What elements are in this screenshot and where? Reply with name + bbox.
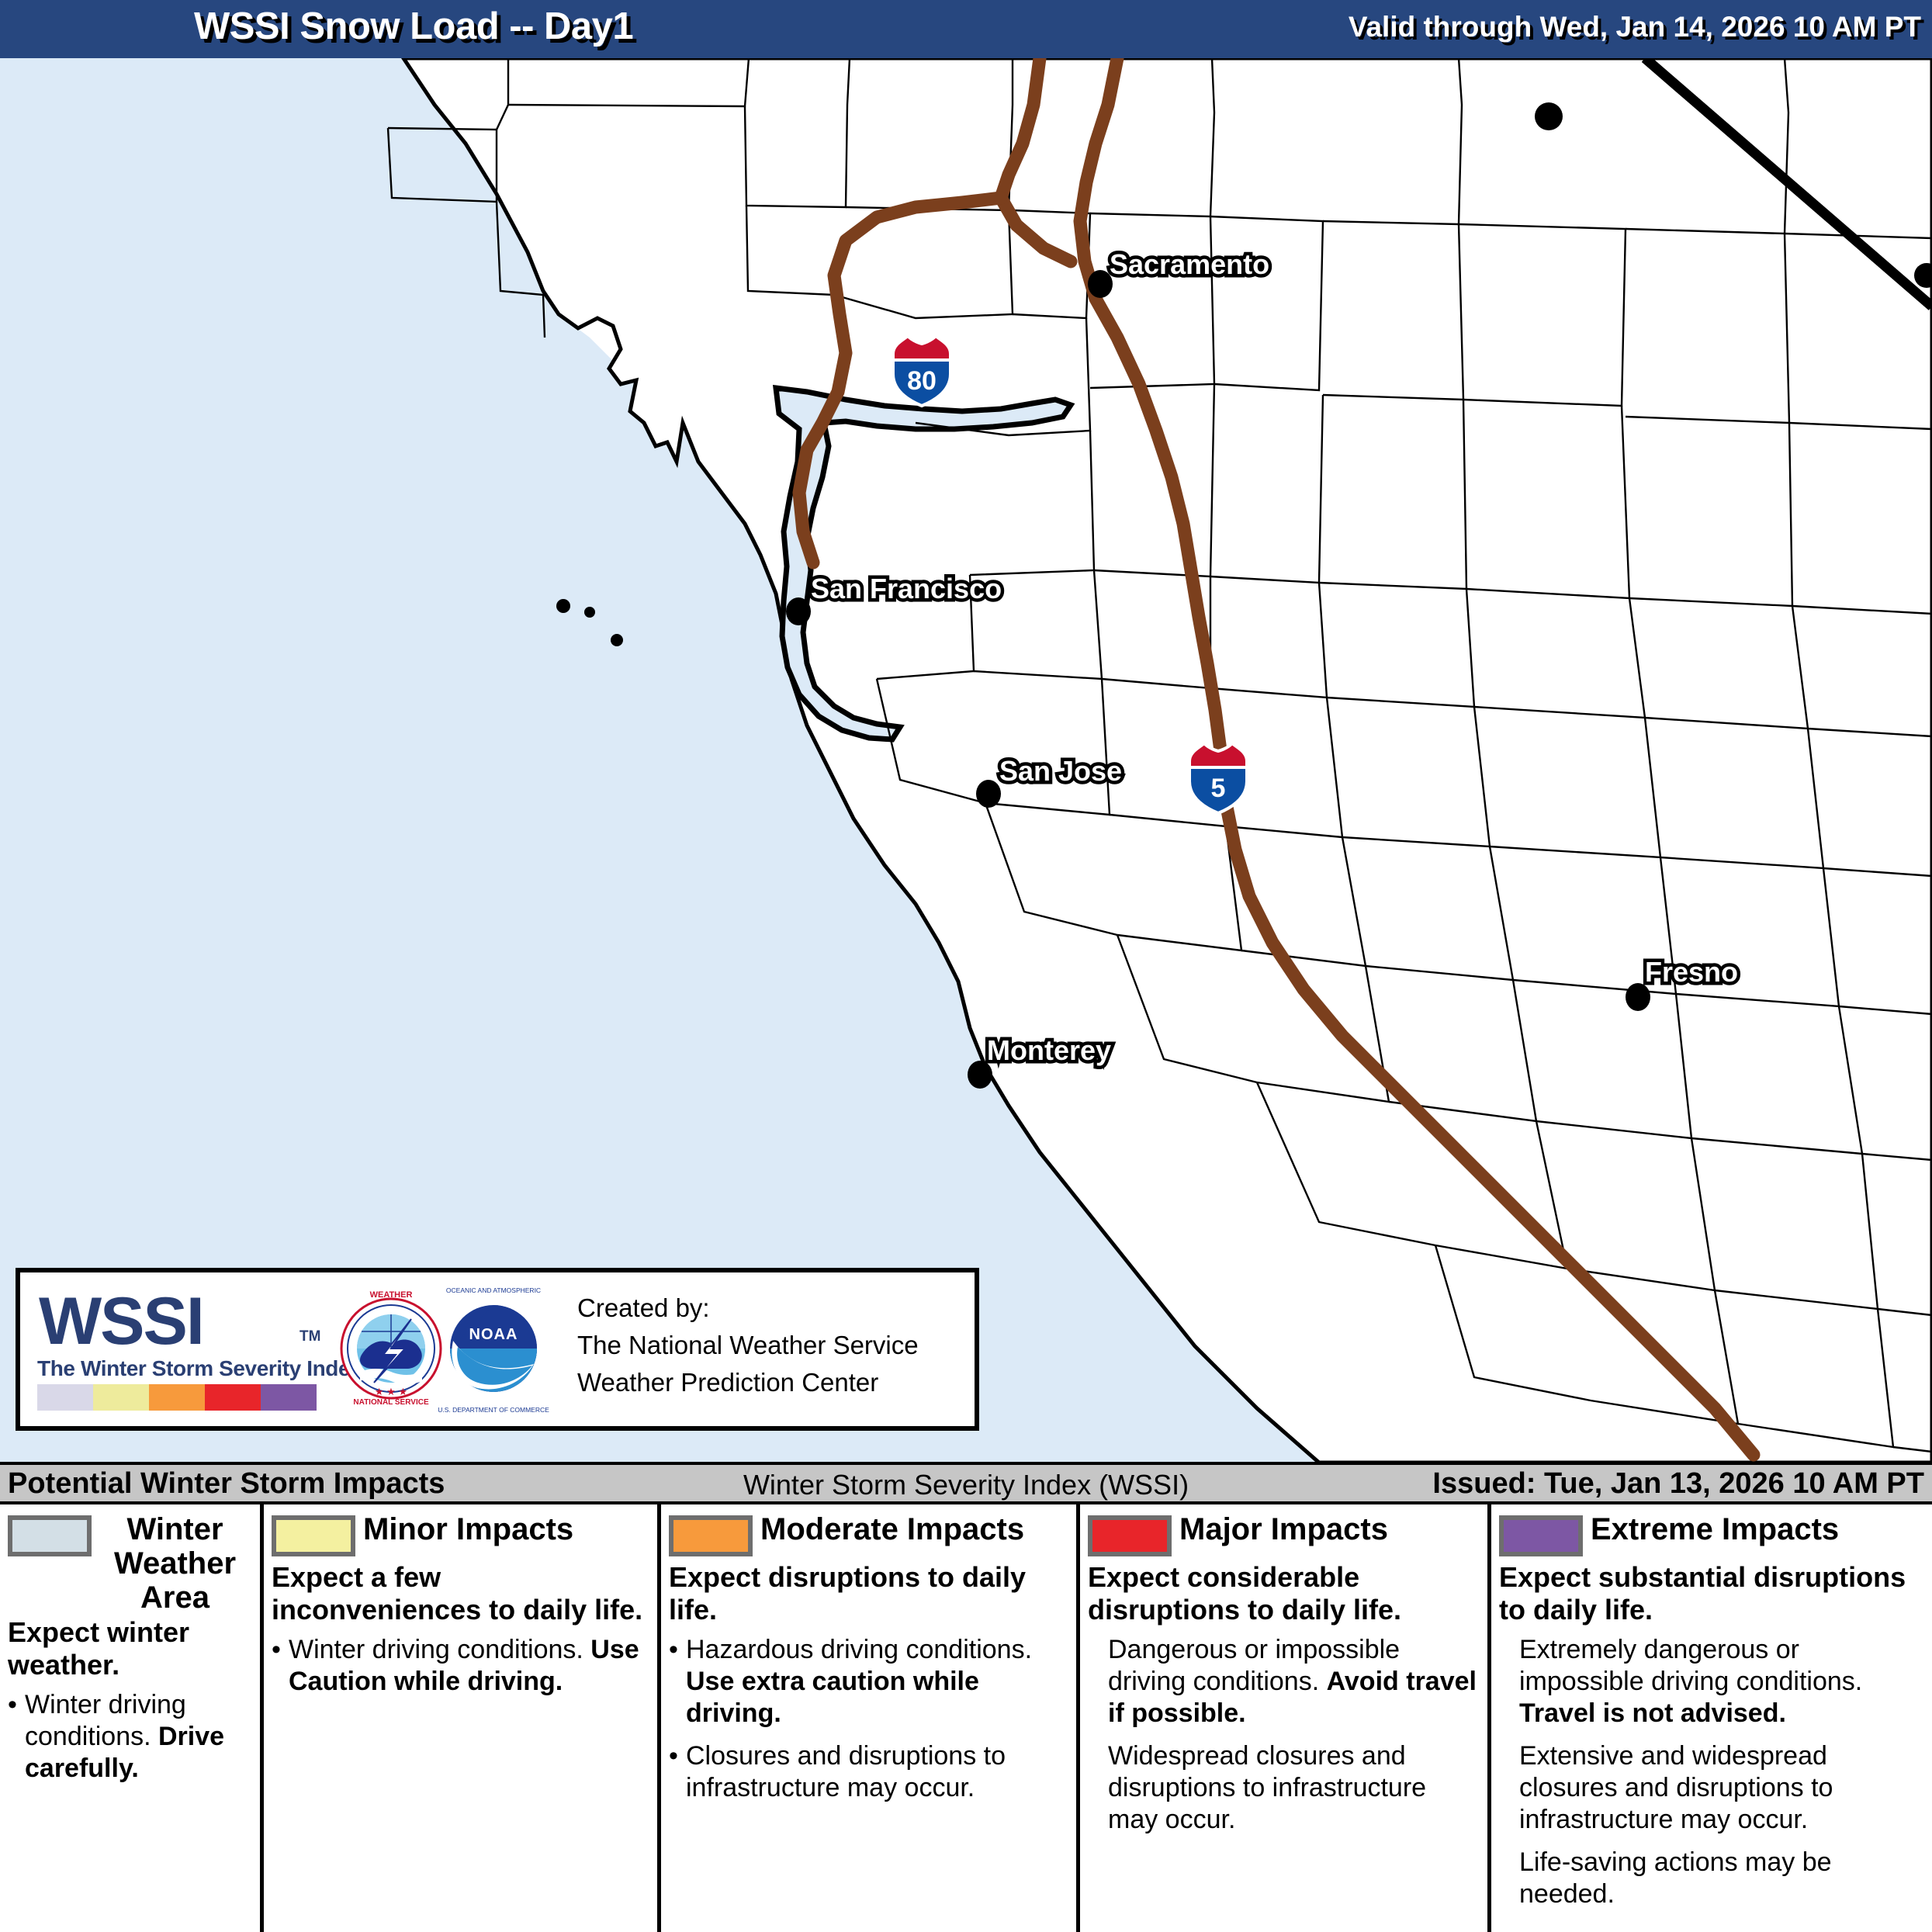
legend-subtitle-moderate-impacts: Expect disruptions to daily life. [669,1561,1067,1626]
city-dot-san-jose [976,780,1001,808]
svg-text:★ ★ ★: ★ ★ ★ [375,1386,407,1397]
legend-column-moderate-impacts[interactable]: Moderate Impacts Expect disruptions to d… [661,1504,1080,1932]
map-geography [0,58,1932,1463]
legend-bullet: •Dangerous or impossible driving conditi… [1088,1634,1478,1729]
map-canvas[interactable]: 80 5 Sacramento San Francisco San Jose F… [0,58,1932,1463]
status-bar: Potential Winter Storm Impacts Winter St… [0,1462,1932,1504]
legend-bullet: •Winter driving conditions. Drive carefu… [8,1689,251,1785]
legend-subtitle-winter-weather-area: Expect winter weather. [8,1616,251,1681]
legend-swatch-winter-weather-area [8,1515,92,1556]
national-weather-service-seal: WEATHER NATIONAL SERVICE ★ ★ ★ [341,1290,441,1407]
created-by-line-3: Weather Prediction Center [577,1364,919,1401]
svg-text:U.S. DEPARTMENT OF COMMERCE: U.S. DEPARTMENT OF COMMERCE [438,1406,549,1414]
svg-text:OCEANIC AND ATMOSPHERIC: OCEANIC AND ATMOSPHERIC [446,1286,541,1294]
created-by-line-2: The National Weather Service [577,1327,919,1364]
wssi-logo-box: WSSI TM The Winter Storm Severity Index [16,1268,979,1431]
potential-impacts-label: Potential Winter Storm Impacts [8,1467,445,1501]
legend-bullets-minor-impacts: •Winter driving conditions. Use Caution … [272,1634,648,1698]
city-dot-san-francisco [786,597,811,625]
city-dot-unlabeled [1535,102,1563,130]
colorbar-segment-major [205,1384,261,1411]
city-label-san-jose: San Jose [999,755,1122,788]
legend-bullet: •Life-saving actions may be needed. [1499,1847,1923,1910]
legend-bullets-extreme-impacts: •Extremely dangerous or impossible drivi… [1499,1634,1923,1910]
wssi-full-name-label: Winter Storm Severity Index (WSSI) [743,1469,1189,1501]
interstate-number: 80 [907,366,937,396]
legend-subtitle-extreme-impacts: Expect substantial disruptions to daily … [1499,1561,1923,1626]
legend-title-major-impacts: Major Impacts [1179,1512,1388,1546]
bullet-text: Life-saving actions may be needed. [1519,1847,1923,1910]
interstate-shield-5: 5 [1185,741,1252,815]
noaa-seal: NOAA OCEANIC AND ATMOSPHERIC U.S. DEPART… [438,1286,549,1414]
farallon-island [584,607,595,618]
legend-title-winter-weather-area: Winter Weather Area [99,1512,251,1615]
city-label-sacramento: Sacramento [1110,248,1269,281]
impact-legend: Winter Weather Area Expect winter weathe… [0,1501,1932,1932]
header-bar: WSSI Snow Load -- Day1 Valid through Wed… [0,0,1932,58]
bullet-text: Extensive and widespread closures and di… [1519,1740,1923,1836]
legend-subtitle-minor-impacts: Expect a few inconveniences to daily lif… [272,1561,648,1626]
legend-column-extreme-impacts[interactable]: Extreme Impacts Expect substantial disru… [1491,1504,1932,1932]
colorbar-segment-extreme [261,1384,317,1411]
legend-bullet: •Closures and disruptions to infrastruct… [669,1740,1067,1804]
legend-bullet: •Extremely dangerous or impossible drivi… [1499,1634,1923,1729]
bullet-dot: • [669,1634,686,1729]
legend-bullets-moderate-impacts: •Hazardous driving conditions. Use extra… [669,1634,1067,1804]
farallon-island [611,634,623,646]
bullet-text: Widespread closures and disruptions to i… [1108,1740,1478,1836]
legend-column-winter-weather-area[interactable]: Winter Weather Area Expect winter weathe… [0,1504,264,1932]
legend-subtitle-major-impacts: Expect considerable disruptions to daily… [1088,1561,1478,1626]
bullet-dot: • [669,1740,686,1804]
bullet-text: Winter driving conditions. Use Caution w… [289,1634,648,1698]
created-by-block: Created by: The National Weather Service… [577,1290,919,1401]
bullet-text: Closures and disruptions to infrastructu… [686,1740,1067,1804]
bullet-emphasis: Drive carefully. [25,1722,224,1783]
legend-bullet: •Hazardous driving conditions. Use extra… [669,1634,1067,1729]
legend-swatch-minor-impacts [272,1515,355,1556]
bullet-text: Hazardous driving conditions. Use extra … [686,1634,1067,1729]
bullet-text: Winter driving conditions. Drive careful… [25,1689,251,1785]
legend-bullet: •Winter driving conditions. Use Caution … [272,1634,648,1698]
svg-text:NATIONAL SERVICE: NATIONAL SERVICE [353,1398,429,1407]
wssi-snow-load-map-page: WSSI Snow Load -- Day1 Valid through Wed… [0,0,1932,1932]
legend-title-moderate-impacts: Moderate Impacts [760,1512,1024,1546]
legend-title-extreme-impacts: Extreme Impacts [1591,1512,1839,1546]
interstate-number: 5 [1211,774,1226,803]
legend-bullets-major-impacts: •Dangerous or impossible driving conditi… [1088,1634,1478,1836]
legend-bullets-winter-weather-area: •Winter driving conditions. Drive carefu… [8,1689,251,1785]
legend-title-minor-impacts: Minor Impacts [363,1512,573,1546]
issued-label: Issued: Tue, Jan 13, 2026 10 AM PT [1432,1467,1924,1501]
legend-swatch-moderate-impacts [669,1515,753,1556]
colorbar-segment-winter-weather [37,1384,93,1411]
city-label-san-francisco: San Francisco [811,573,1002,605]
legend-swatch-major-impacts [1088,1515,1172,1556]
city-label-monterey: Monterey [987,1034,1111,1067]
legend-swatch-extreme-impacts [1499,1515,1583,1556]
colorbar-segment-minor [93,1384,149,1411]
bullet-emphasis: Use Caution while driving. [289,1635,639,1696]
farallon-island [556,599,570,613]
bullet-dot: • [8,1689,25,1785]
bullet-dot: • [272,1634,289,1698]
page-title: WSSI Snow Load -- Day1 [194,5,633,48]
bullet-text: Dangerous or impossible driving conditio… [1108,1634,1478,1729]
wssi-tagline: The Winter Storm Severity Index [37,1356,362,1381]
wssi-wordmark: WSSI [39,1283,203,1360]
interstate-shield-80: 80 [888,334,955,408]
bullet-text: Extremely dangerous or impossible drivin… [1519,1634,1923,1729]
trademark-symbol: TM [299,1328,320,1345]
colorbar-segment-moderate [149,1384,205,1411]
valid-through-label: Valid through Wed, Jan 14, 2026 10 AM PT [1349,11,1921,43]
legend-bullet: •Extensive and widespread closures and d… [1499,1740,1923,1836]
wssi-colorbar [37,1384,317,1411]
city-label-fresno: Fresno [1645,956,1738,989]
bullet-emphasis: Avoid travel if possible. [1108,1667,1477,1728]
created-by-line-1: Created by: [577,1290,919,1327]
bullet-emphasis: Travel is not advised. [1519,1698,1786,1728]
svg-text:NOAA: NOAA [469,1326,518,1343]
bullet-emphasis: Use extra caution while driving. [686,1667,979,1728]
svg-text:WEATHER: WEATHER [370,1290,413,1300]
legend-bullet: •Widespread closures and disruptions to … [1088,1740,1478,1836]
agency-seals: WEATHER NATIONAL SERVICE ★ ★ ★ NOAA OCEA… [338,1280,556,1420]
legend-column-minor-impacts[interactable]: Minor Impacts Expect a few inconvenience… [264,1504,661,1932]
legend-column-major-impacts[interactable]: Major Impacts Expect considerable disrup… [1080,1504,1491,1932]
